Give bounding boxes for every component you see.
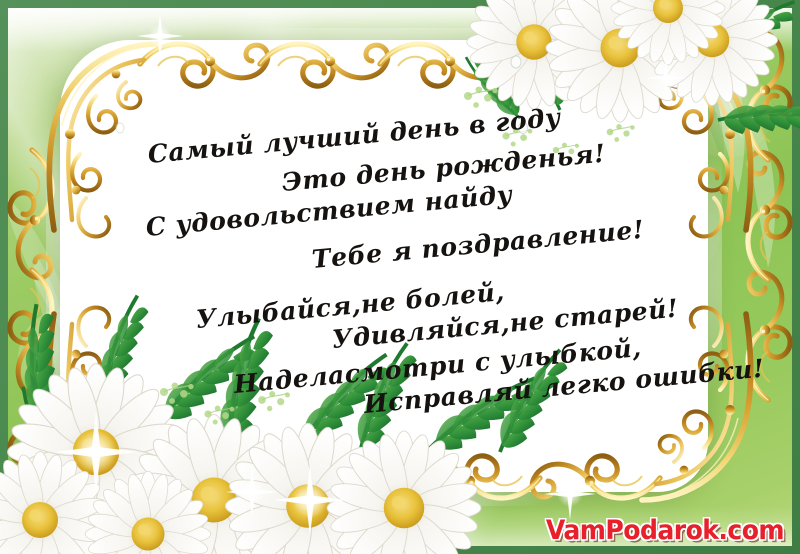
greeting-card: Самый лучший день в году Это день рожден… [0,0,800,554]
watermark-logo[interactable]: VamPodarok.com [546,515,784,546]
paper-panel [60,40,708,492]
